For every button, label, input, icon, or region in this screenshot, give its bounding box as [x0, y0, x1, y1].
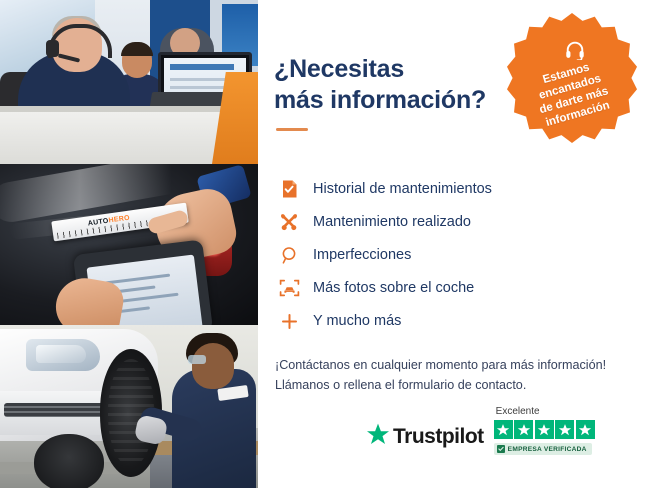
- rear-tire: [34, 434, 104, 488]
- mechanic-wheel-inspection-photo: [0, 325, 258, 488]
- contact-line-2: Llámanos o rellena el formulario de cont…: [275, 375, 625, 395]
- wrench-screwdriver-icon: [274, 212, 304, 232]
- trustpilot-star-icon: [366, 423, 390, 451]
- safety-glasses: [188, 355, 206, 364]
- star-icon: [576, 420, 595, 439]
- screen-header-bar: [170, 64, 234, 70]
- trustpilot-logo: Trustpilot: [366, 423, 484, 451]
- list-item: Mantenimiento realizado: [274, 206, 650, 238]
- desk-edge: [0, 106, 258, 112]
- star-rating: [494, 420, 595, 439]
- check-icon: [497, 445, 505, 453]
- feature-list: Historial de mantenimientos M: [274, 173, 650, 337]
- clipboard-check-icon: [274, 179, 304, 199]
- photo-collage: AUTOHERO: [0, 0, 258, 488]
- list-item-label: Y mucho más: [313, 313, 401, 329]
- list-item: Más fotos sobre el coche: [274, 272, 650, 304]
- plus-icon: [274, 312, 304, 331]
- content-panel: ¿Necesitas más información? Estamos enca…: [258, 0, 650, 488]
- trustpilot-rating: Trustpilot Excelente EMPRESA VERIFICADA: [366, 406, 595, 455]
- page-title: ¿Necesitas más información?: [274, 54, 524, 115]
- list-item-label: Más fotos sobre el coche: [313, 280, 474, 296]
- car-grille: [4, 403, 108, 417]
- star-icon: [535, 420, 554, 439]
- verified-label: EMPRESA VERIFICADA: [508, 446, 587, 453]
- magnifier-icon: [274, 246, 304, 265]
- headset-earcup: [46, 40, 59, 57]
- car-headlight-inner: [36, 345, 86, 363]
- car-inspection-ruler-photo: AUTOHERO: [0, 164, 258, 325]
- verified-business-badge: EMPRESA VERIFICADA: [494, 443, 592, 455]
- promo-banner: AUTOHERO: [0, 0, 650, 488]
- badge-text: Estamos encantados de darte más informac…: [514, 53, 629, 136]
- headline-line-2: más información?: [274, 86, 486, 114]
- list-item: Historial de mantenimientos: [274, 173, 650, 205]
- list-item-label: Mantenimiento realizado: [313, 214, 471, 230]
- trustpilot-score: Excelente EMPRESA VERIFICADA: [494, 406, 595, 455]
- star-icon: [494, 420, 513, 439]
- trustpilot-wordmark: Trustpilot: [393, 425, 484, 449]
- title-accent-bar: [276, 128, 308, 131]
- contact-line-1: ¡Contáctanos en cualquier momento para m…: [275, 355, 625, 375]
- list-item: Imperfecciones: [274, 239, 650, 271]
- star-icon: [555, 420, 574, 439]
- support-badge: Estamos encantados de darte más informac…: [507, 13, 637, 143]
- car-frame-icon: [274, 278, 304, 298]
- mechanic-head: [192, 343, 234, 389]
- star-icon: [514, 420, 533, 439]
- contact-text: ¡Contáctanos en cualquier momento para m…: [275, 355, 625, 396]
- call-center-agents-photo: [0, 0, 258, 164]
- headline-line-1: ¿Necesitas: [274, 55, 404, 83]
- list-item: Y mucho más: [274, 305, 650, 337]
- list-item-label: Historial de mantenimientos: [313, 181, 492, 197]
- list-item-label: Imperfecciones: [313, 247, 411, 263]
- rating-label: Excelente: [496, 406, 540, 417]
